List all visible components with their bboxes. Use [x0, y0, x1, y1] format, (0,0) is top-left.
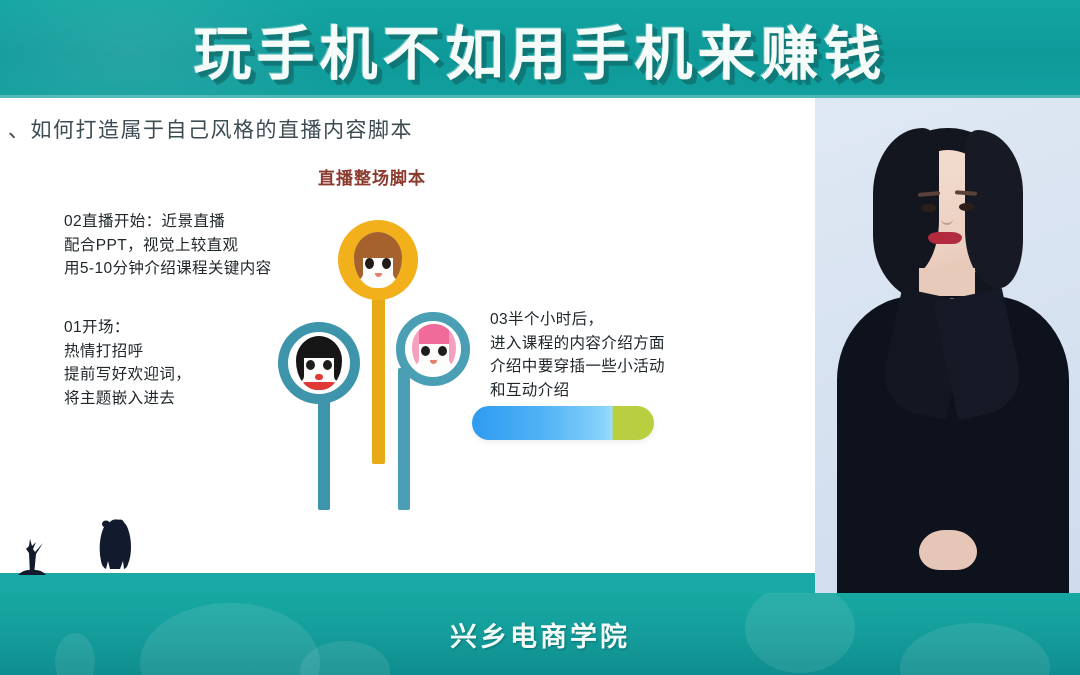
mouth-right — [430, 360, 437, 364]
presenter-video-panel — [815, 98, 1080, 593]
stem-center — [372, 282, 385, 464]
mouth-left — [315, 374, 323, 380]
note-block-02: 02直播开始：近景直播 配合PPT，视觉上较直观 用5-10分钟介绍课程关键内容 — [64, 210, 272, 281]
mouth-center — [375, 273, 382, 277]
presenter-hair-front-right — [965, 130, 1023, 288]
hair-side-right-right — [449, 327, 456, 365]
note-block-01: 01开场： 热情打招呼 提前写好欢迎词， 将主题嵌入进去 — [64, 316, 191, 410]
slide-content: 、如何打造属于自己风格的直播内容脚本 直播整场脚本 02直播开始：近景直播 配合… — [0, 98, 815, 593]
banner-title: 玩手机不如用手机来赚钱 — [0, 0, 1080, 98]
face-center — [354, 232, 402, 288]
shirt-left — [298, 382, 340, 390]
face-left — [296, 336, 342, 390]
presenter-hands — [919, 530, 977, 570]
gradient-progress-pill — [472, 406, 654, 440]
ground-strip — [0, 573, 815, 593]
footer-band: 兴乡电商学院 — [0, 593, 1080, 675]
stem-right — [398, 368, 410, 510]
hair-side-right-center — [393, 234, 402, 280]
bare-tree-icon — [12, 533, 52, 575]
eye-right-center — [382, 258, 391, 269]
eye-left-right — [421, 346, 430, 356]
presenter-eye-left — [921, 204, 936, 212]
figure-left-black-hair-girl — [278, 322, 362, 510]
bear-silhouette-icon — [92, 517, 138, 575]
eye-left-center — [365, 258, 374, 269]
presenter-hair-front-left — [873, 128, 939, 278]
slide-subtitle: 直播整场脚本 — [318, 164, 426, 189]
hair-side-left-center — [354, 234, 363, 280]
presenter-lips — [928, 232, 962, 244]
slide-stage: 玩手机不如用手机来赚钱 、如何打造属于自己风格的直播内容脚本 直播整场脚本 02… — [0, 0, 1080, 675]
eye-right-right — [438, 346, 447, 356]
face-right — [412, 324, 456, 374]
hair-side-left-right — [412, 327, 419, 365]
note-block-03: 03半个小时后， 进入课程的内容介绍方面 介绍中要穿插一些小活动 和互动介绍 — [490, 308, 665, 402]
page-title: 、如何打造属于自己风格的直播内容脚本 — [8, 114, 413, 144]
hair-side-left-left — [296, 340, 304, 382]
presenter-eye-right — [959, 203, 974, 211]
eye-left-left — [306, 360, 315, 370]
figure-right-pink-hair-girl — [396, 312, 474, 510]
presenter-nose — [941, 211, 953, 225]
footer-brand-text: 兴乡电商学院 — [0, 593, 1080, 675]
eye-right-left — [323, 360, 332, 370]
hair-side-right-left — [334, 340, 342, 382]
title-banner: 玩手机不如用手机来赚钱 — [0, 0, 1080, 98]
